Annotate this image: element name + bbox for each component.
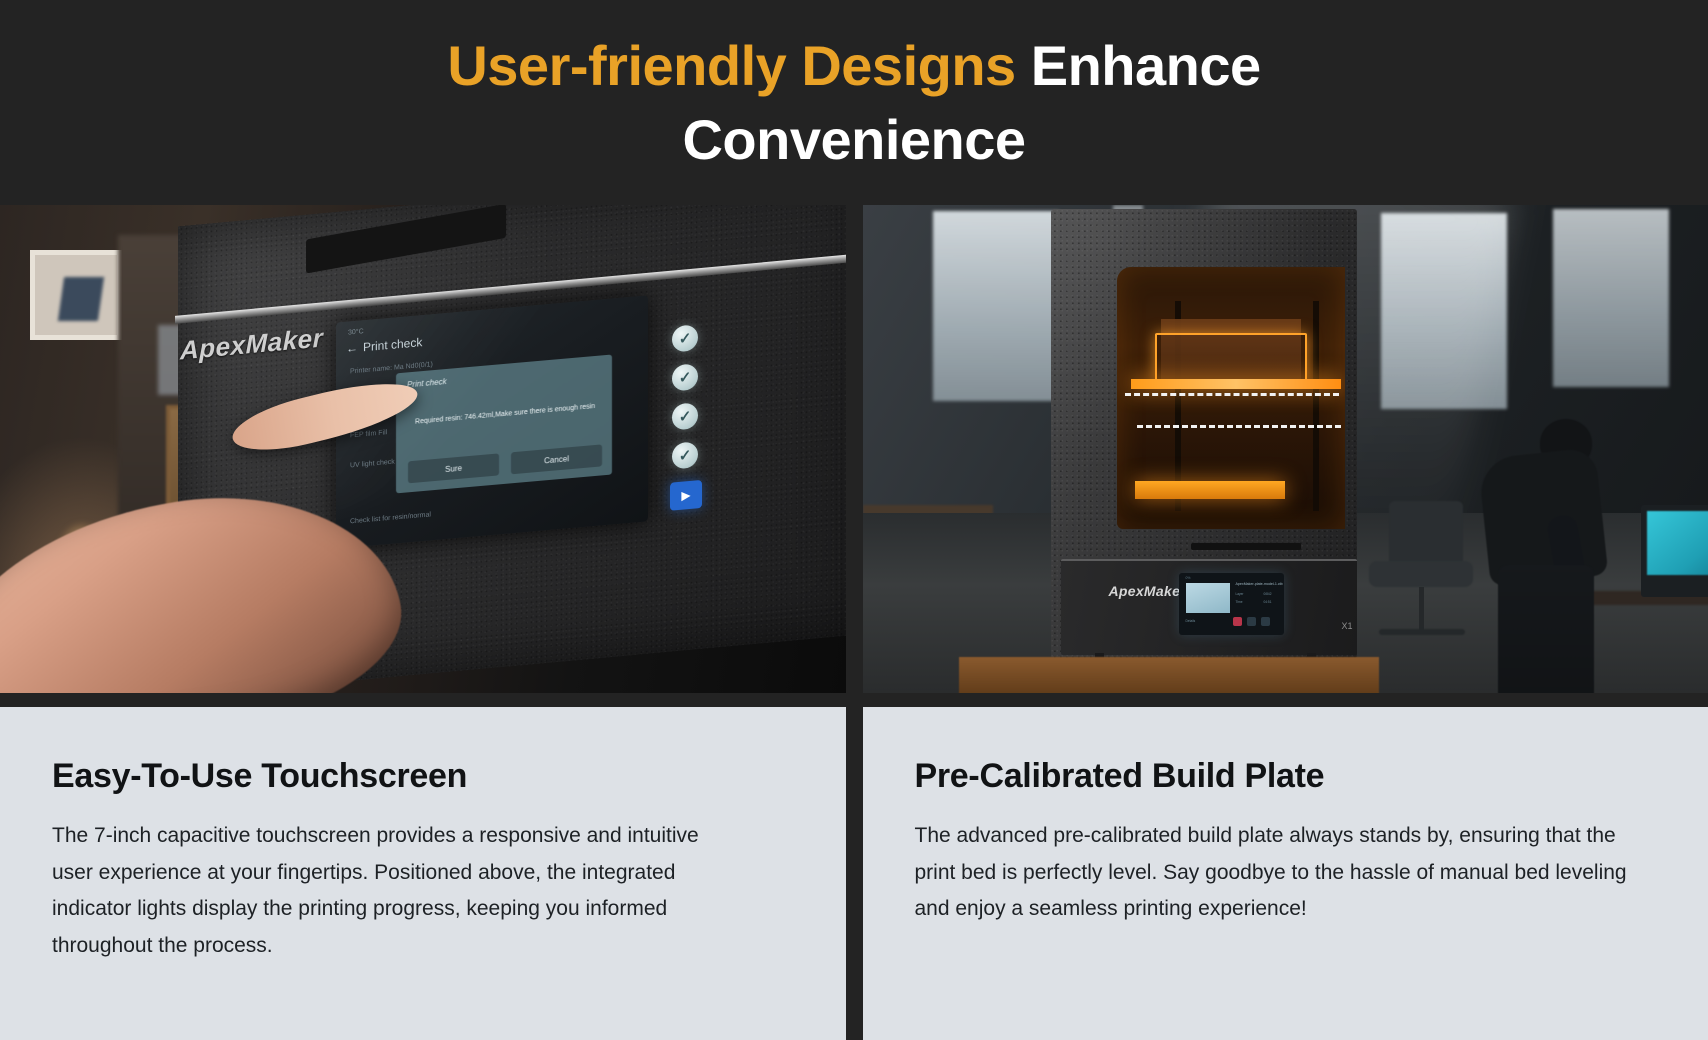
page-header: User-friendly Designs Enhance Convenienc… <box>0 0 1708 205</box>
feature-column-build-plate: ApexMaker 0% ApexMaker-plate-model-1.ctb… <box>863 205 1708 1040</box>
dialog-confirm-button[interactable]: Sure <box>408 453 499 483</box>
chair-leg <box>1419 587 1424 633</box>
feature-column-touchscreen: ApexMaker 30°C ←Print check Printer name… <box>0 205 846 1040</box>
promo-page: User-friendly Designs Enhance Convenienc… <box>0 0 1708 1040</box>
check-circle-icon: ✓ <box>672 324 698 352</box>
dialog-message: Required resin: 746.42ml,Make sure there… <box>410 402 600 429</box>
panel-settings-button[interactable] <box>1261 617 1270 626</box>
dialog-button-row: Sure Cancel <box>408 444 602 483</box>
panel-layer-value: 0/842 <box>1264 592 1272 596</box>
indicator-light-strip: ✓ ✓ ✓ ✓ ▶ <box>664 299 716 540</box>
panel-stop-button[interactable] <box>1233 617 1242 626</box>
print-check-dialog: Print check Required resin: 746.42ml,Mak… <box>396 355 612 494</box>
printer-control-panel[interactable]: 0% ApexMaker-plate-model-1.ctb Layer Tim… <box>1179 573 1284 635</box>
panel-file-name: ApexMaker-plate-model-1.ctb <box>1236 582 1283 586</box>
panel-button-row <box>1233 617 1270 626</box>
printer-base: ApexMaker 0% ApexMaker-plate-model-1.ctb… <box>1061 559 1357 655</box>
screen-temperature: 30°C <box>348 328 364 336</box>
chair-back <box>1389 501 1463 567</box>
panel-progress-label: 0% <box>1186 576 1191 580</box>
panel-time-label: Time <box>1236 600 1243 604</box>
panel-model-thumbnail <box>1186 583 1230 613</box>
wall-picture-frame <box>30 250 122 340</box>
person-silhouette <box>1458 405 1628 693</box>
printer-top-vent <box>306 205 506 273</box>
panel-time-value: 04:51 <box>1264 600 1272 604</box>
chair-base <box>1379 629 1465 635</box>
photo-touchscreen: ApexMaker 30°C ←Print check Printer name… <box>0 205 846 693</box>
card-body: The 7-inch capacitive touchscreen provid… <box>52 818 742 964</box>
printer-model-label: X1 <box>1341 621 1352 631</box>
leveling-guide-line <box>1125 393 1339 396</box>
screen-row-checklist: Check list for resin/normal <box>350 510 431 528</box>
card-title: Pre-Calibrated Build Plate <box>915 757 1649 796</box>
check-circle-icon: ✓ <box>672 441 698 469</box>
page-title: User-friendly Designs Enhance Convenienc… <box>304 29 1404 177</box>
person-legs <box>1498 565 1594 693</box>
start-print-button[interactable]: ▶ <box>670 480 702 511</box>
check-circle-icon: ✓ <box>672 363 698 391</box>
panel-layer-label: Layer <box>1236 592 1244 596</box>
desk-monitor <box>1641 505 1708 597</box>
panel-pause-button[interactable] <box>1247 617 1256 626</box>
back-arrow-icon: ← <box>346 341 358 356</box>
monitor-screen <box>1647 511 1708 575</box>
build-plate <box>1131 379 1341 389</box>
headline-accent: User-friendly Designs <box>447 34 1015 97</box>
studio-window <box>1553 209 1669 387</box>
dialog-cancel-button[interactable]: Cancel <box>511 444 602 474</box>
chamber-post <box>1313 301 1319 511</box>
card-body: The advanced pre-calibrated build plate … <box>915 818 1635 928</box>
printer-brand-logo: ApexMaker <box>1109 583 1186 599</box>
panel-details-button[interactable]: Details <box>1186 619 1196 623</box>
check-circle-icon: ✓ <box>672 402 698 430</box>
build-plate-bracket <box>1155 333 1307 381</box>
feature-card-touchscreen: Easy-To-Use Touchscreen The 7-inch capac… <box>0 707 846 1040</box>
card-title: Easy-To-Use Touchscreen <box>52 757 794 796</box>
feature-card-build-plate: Pre-Calibrated Build Plate The advanced … <box>863 707 1708 1040</box>
printer-chamber-window <box>1117 267 1345 529</box>
leveling-guide-line <box>1137 425 1341 428</box>
studio-window <box>933 211 1059 401</box>
printer-handle-slot <box>1191 543 1301 550</box>
wooden-table <box>959 657 1379 693</box>
resin-vat <box>1135 481 1285 499</box>
printer-touchscreen[interactable]: 30°C ←Print check Printer name: Ma Nd0(0… <box>336 295 648 548</box>
photo-build-plate: ApexMaker 0% ApexMaker-plate-model-1.ctb… <box>863 205 1708 693</box>
feature-columns: ApexMaker 30°C ←Print check Printer name… <box>0 205 1708 1040</box>
printer-right: ApexMaker 0% ApexMaker-plate-model-1.ctb… <box>1051 209 1357 659</box>
